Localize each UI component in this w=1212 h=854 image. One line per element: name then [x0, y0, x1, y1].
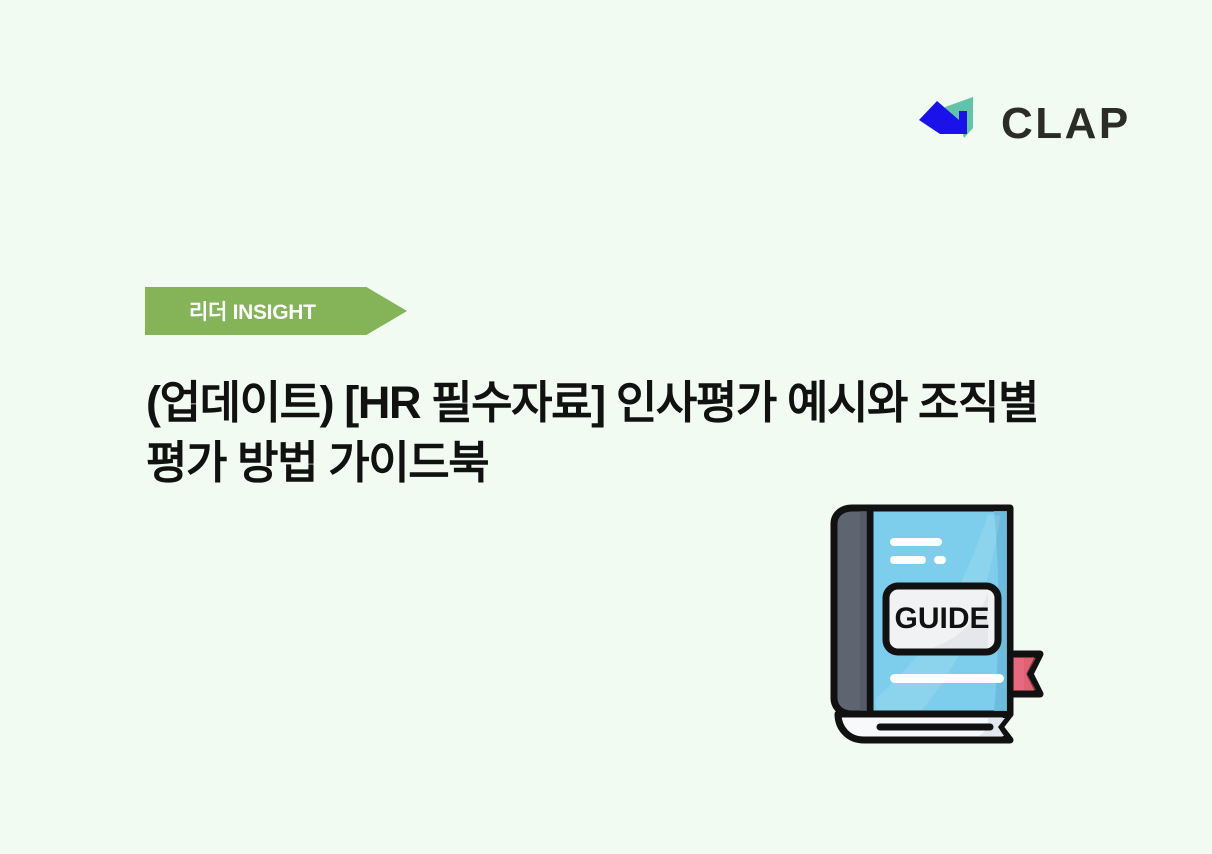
page-title: (업데이트) [HR 필수자료] 인사평가 예시와 조직별 평가 방법 가이드북: [146, 373, 1126, 493]
guide-book-illustration: GUIDE: [812, 502, 1062, 757]
brand-logo: CLAP: [915, 94, 1131, 154]
guide-label-text: GUIDE: [894, 602, 989, 635]
cover-lower-line: [890, 674, 1004, 683]
eyebrow-tag-label: 리더 INSIGHT: [189, 287, 316, 335]
clap-logo-mark-icon: [915, 94, 983, 154]
spine-shading: [860, 511, 867, 711]
eyebrow-tag: 리더 INSIGHT: [145, 287, 407, 335]
brand-wordmark: CLAP: [1001, 102, 1131, 146]
